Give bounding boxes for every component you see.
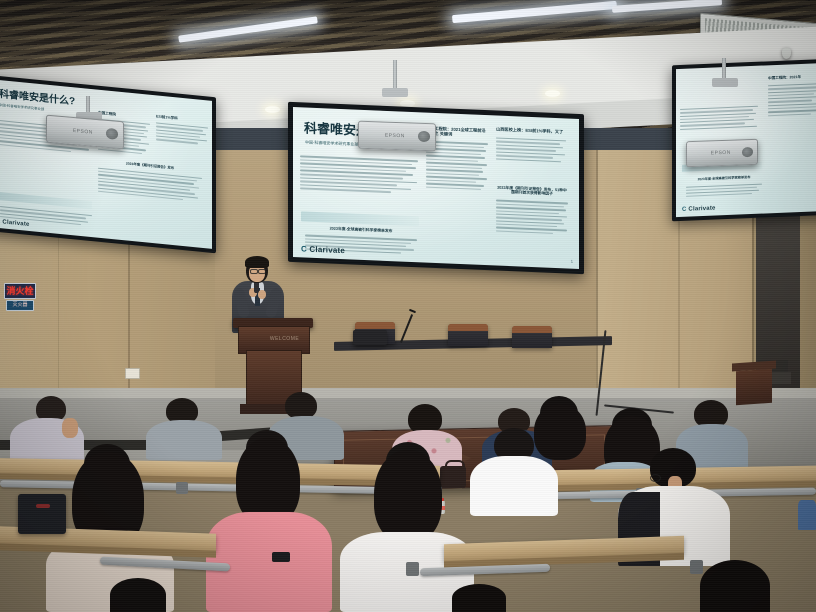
wall-outlet[interactable] xyxy=(125,368,140,379)
security-camera-icon xyxy=(782,48,791,59)
lecture-hall-photo: 消火栓 灭火器 科睿唯安是什么? 中国-科睿唯安学术研究事业部 中国工程院 xyxy=(0,0,816,612)
clarivate-logo: C Clarivate xyxy=(682,206,716,213)
audience-body xyxy=(146,420,222,460)
fire-extinguisher-sign-label: 灭火器 xyxy=(12,303,27,308)
speaker-hand-right xyxy=(258,290,266,299)
audience-long-hair xyxy=(374,450,442,542)
projector-center: EPSON xyxy=(358,121,436,152)
clarivate-logo: C Clarivate xyxy=(301,244,345,255)
speaker-glasses-left xyxy=(250,269,258,274)
audience-head xyxy=(452,584,506,612)
seat-rail-cap xyxy=(406,562,419,576)
projector-pole xyxy=(722,58,726,80)
handbag[interactable] xyxy=(440,466,466,488)
speaker-hair xyxy=(245,256,269,268)
speaker-glasses-right xyxy=(258,269,266,274)
slide-mid-heading: 2023年度-全球高被引科学家榜单发布 xyxy=(305,226,417,235)
projector-pole xyxy=(393,60,397,90)
fire-extinguisher-sign: 灭火器 xyxy=(6,300,34,311)
audience-hand xyxy=(62,418,78,438)
backpack-logo xyxy=(36,504,50,508)
backpack[interactable] xyxy=(18,494,66,534)
laptop[interactable] xyxy=(353,330,387,345)
seat-rail-cap xyxy=(690,560,703,574)
slide-column-heading: 山西医校上榜：ESI前1%学科，又了 xyxy=(496,128,566,136)
stage-chair[interactable] xyxy=(512,326,552,348)
audience-body xyxy=(206,512,332,612)
projection-screen-left: 科睿唯安是什么? 中国-科睿唯安学术研究事业部 中国工程院 xyxy=(0,75,216,254)
audience-head xyxy=(700,560,770,612)
slide-mid-heading: 2023年度《期刊引证报告》发布，51种中国期刊首次获得影响因子 xyxy=(496,186,568,197)
audience-head xyxy=(110,578,166,612)
audience-glasses xyxy=(650,474,661,482)
fire-hydrant-sign: 消火栓 xyxy=(4,283,36,299)
seat-rail-cap xyxy=(176,482,188,494)
downlight xyxy=(265,106,280,113)
projector-mount xyxy=(712,78,738,87)
projector-right: EPSON xyxy=(686,139,758,168)
stage-chair[interactable] xyxy=(448,324,488,346)
audience-body xyxy=(470,456,558,516)
side-table-body xyxy=(736,369,772,406)
slide-page-number: 1 xyxy=(571,259,573,264)
projector-mount xyxy=(382,88,408,97)
projection-screen-center: 科睿唯安是什么? 中国-科睿唯安学术研究事业部 中国工程院：2021全球工程前沿… xyxy=(288,102,584,274)
fire-hydrant-sign-label: 消火栓 xyxy=(6,287,33,296)
audience-long-hair xyxy=(534,404,586,460)
audience-body xyxy=(798,500,816,530)
downlight xyxy=(545,90,560,97)
keys[interactable] xyxy=(272,552,290,562)
projector-brand-label: EPSON xyxy=(385,132,405,139)
projector-brand-label: EPSON xyxy=(711,150,731,157)
projector-brand-label: EPSON xyxy=(73,128,93,136)
podium-label: WELCOME xyxy=(270,336,299,342)
audience-head xyxy=(285,392,317,419)
